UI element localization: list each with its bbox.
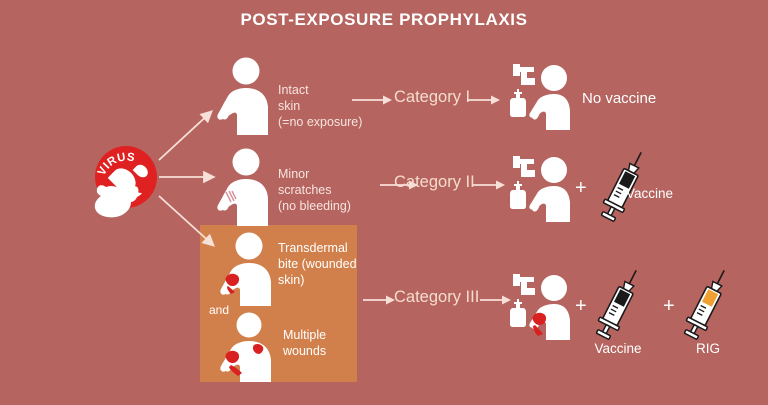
wash-wound-icon-row-3 [504,268,570,340]
exposure-label-category-3a: Transdermal bite (wounded skin) [278,240,364,288]
wash-wound-icon-row-2 [504,150,570,222]
exposure-line: wounds [283,343,363,359]
arrow-category-2-out [473,179,505,191]
plus-sign-row-2: + [575,177,587,200]
arrow-to-category-1 [159,112,211,160]
outcome-label-category-1: No vaccine [582,90,656,107]
exposure-label-category-2: Minor scratches (no bleeding) [278,166,376,214]
page-title: POST-EXPOSURE PROPHYLAXIS [0,10,768,30]
drug-label-rig-row-3: RIG [668,341,748,356]
plus-sign-row-3-a: + [575,295,587,318]
arrow-category-1-in [352,94,392,106]
person-transdermal-bite-icon [218,232,280,306]
drug-label-vaccine-row-2: Vaccine [626,186,673,201]
arrow-category-1-out [467,94,500,106]
person-intact-skin-icon [215,57,277,135]
syringe-icon-vaccine-row-3 [595,270,641,342]
category-label-1: Category I [394,88,470,107]
exposure-line: Minor [278,166,376,182]
syringe-icon-rig-row-3 [683,270,729,342]
infographic-canvas: POST-EXPOSURE PROPHYLAXIS VIRUS [0,0,768,405]
exposure-label-category-3b: Multiple wounds [283,327,363,359]
exposure-line: (=no exposure) [278,114,370,130]
drug-label-vaccine-row-3: Vaccine [578,341,658,356]
person-minor-scratches-icon [215,148,277,226]
arrow-category-3-in [363,294,395,306]
dog-head-icon [92,182,144,220]
category-label-2: Category II [394,173,475,192]
category-label-3: Category III [394,288,479,307]
exposure-line: (no bleeding) [278,198,376,214]
plus-sign-row-3-b: + [663,295,675,318]
exposure-line: bite (wounded [278,256,364,272]
exposure-line: scratches [278,182,376,198]
exposure-line: Transdermal [278,240,364,256]
wash-wound-icon-row-1 [504,58,570,130]
exposure-label-category-1: Intact skin (=no exposure) [278,82,370,130]
exposure-line: Multiple [283,327,363,343]
person-multiple-wounds-icon [218,312,280,382]
exposure-line: skin) [278,272,364,288]
arrow-to-category-3 [159,196,213,245]
